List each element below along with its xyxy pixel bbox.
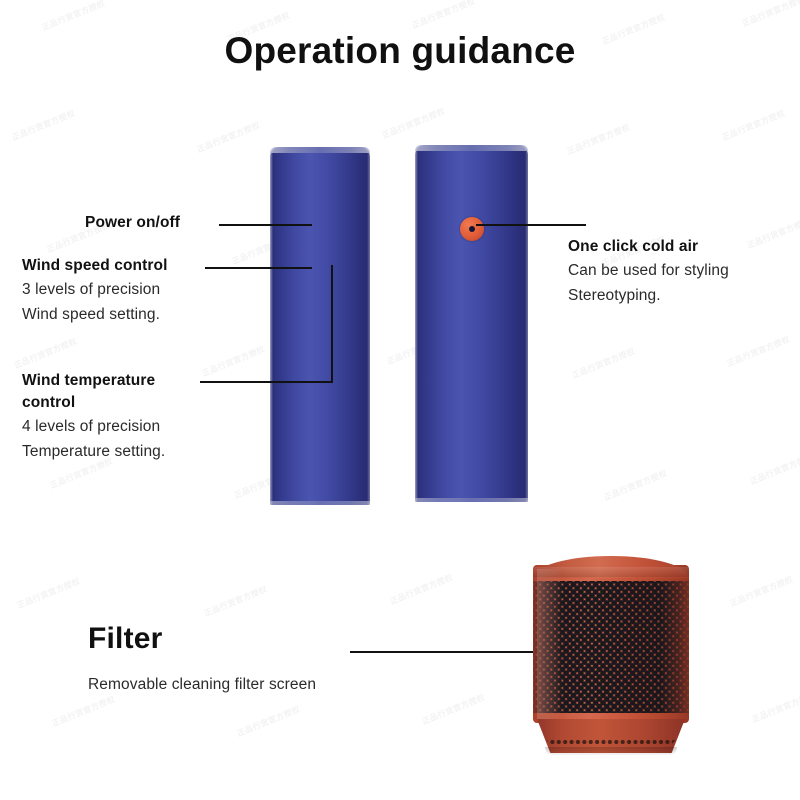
callout-wind-speed-heading: Wind speed control (22, 255, 167, 277)
callout-wind-temperature-heading-line1: Wind temperature (22, 370, 165, 392)
callout-power-heading: Power on/off (85, 212, 180, 234)
filter-base-shadow (545, 747, 677, 755)
watermark-text: 正品行货官方授权 (750, 690, 800, 725)
device-body-front (270, 147, 370, 505)
watermark-text: 正品行货官方授权 (50, 694, 116, 729)
watermark-text: 正品行货官方授权 (410, 0, 476, 31)
page-title: Operation guidance (0, 30, 800, 72)
watermark-text: 正品行货官方授权 (40, 0, 106, 33)
filter-description: Removable cleaning filter screen (88, 676, 316, 694)
watermark-text: 正品行货官方授权 (602, 468, 668, 503)
callout-wind-temperature: Wind temperature control 4 levels of pre… (22, 370, 165, 464)
watermark-text: 正品行货官方授权 (200, 344, 266, 379)
filter-body (533, 565, 689, 723)
callout-cold-air-heading: One click cold air (568, 236, 729, 258)
filter-top-shadow (533, 567, 689, 577)
watermark-text: 正品行货官方授权 (12, 336, 78, 371)
callout-wind-temperature-heading-line2: control (22, 392, 165, 414)
device-edge-highlight-right (367, 147, 370, 505)
watermark-text: 正品行货官方授权 (728, 574, 794, 609)
watermark-text: 正品行货官方授权 (10, 108, 76, 143)
device-bottom-rim (415, 498, 528, 502)
callout-cold-air: One click cold air Can be used for styli… (568, 236, 729, 308)
device-surface (415, 145, 528, 502)
filter-base-perforations (543, 739, 679, 747)
watermark-text: 正品行货官方授权 (570, 346, 636, 381)
callout-power: Power on/off (85, 212, 180, 234)
watermark-text: 正品行货官方授权 (740, 0, 800, 29)
device-top-rim (415, 145, 528, 151)
watermark-text: 正品行货官方授权 (15, 576, 81, 611)
callout-wind-speed-line1: 3 levels of precision (22, 277, 167, 302)
device-edge-highlight-left (415, 145, 418, 502)
filter-screen-image (527, 551, 695, 763)
watermark-text: 正品行货官方授权 (748, 452, 800, 487)
watermark-text: 正品行货官方授权 (725, 334, 791, 369)
device-edge-highlight-right (525, 145, 528, 502)
callout-wind-temperature-line2: Temperature setting. (22, 439, 165, 464)
callout-wind-speed-line2: Wind speed setting. (22, 302, 167, 327)
leader-line-power (219, 224, 312, 226)
filter-title: Filter (88, 622, 163, 656)
callout-cold-air-line2: Stereotyping. (568, 283, 729, 308)
watermark-text: 正品行货官方授权 (745, 216, 800, 251)
cold-air-button-center-dot (469, 226, 475, 232)
leader-line-wind-speed (205, 267, 312, 269)
watermark-text: 正品行货官方授权 (420, 692, 486, 727)
device-edge-highlight-left (270, 147, 273, 505)
watermark-text: 正品行货官方授权 (195, 120, 261, 155)
device-body-back (415, 145, 528, 502)
device-surface (270, 147, 370, 505)
watermark-text: 正品行货官方授权 (235, 704, 301, 739)
watermark-text: 正品行货官方授权 (380, 106, 446, 141)
leader-line-cold-air (476, 224, 586, 226)
callout-cold-air-line1: Can be used for styling (568, 258, 729, 283)
leader-line-wind-temperature-horizontal (200, 381, 333, 383)
watermark-text: 正品行货官方授权 (388, 572, 454, 607)
device-top-rim (270, 147, 370, 153)
filter-perforations (533, 581, 689, 713)
callout-wind-speed: Wind speed control 3 levels of precision… (22, 255, 167, 327)
watermark-text: 正品行货官方授权 (565, 122, 631, 157)
device-bottom-rim (270, 501, 370, 505)
cold-air-button[interactable] (460, 217, 484, 241)
callout-wind-temperature-line1: 4 levels of precision (22, 414, 165, 439)
watermark-text: 正品行货官方授权 (202, 584, 268, 619)
leader-line-wind-temperature-vertical (331, 265, 333, 382)
watermark-text: 正品行货官方授权 (720, 108, 786, 143)
infographic-canvas: 正品行货官方授权 正品行货官方授权 正品行货官方授权 正品行货官方授权 正品行货… (0, 0, 800, 800)
